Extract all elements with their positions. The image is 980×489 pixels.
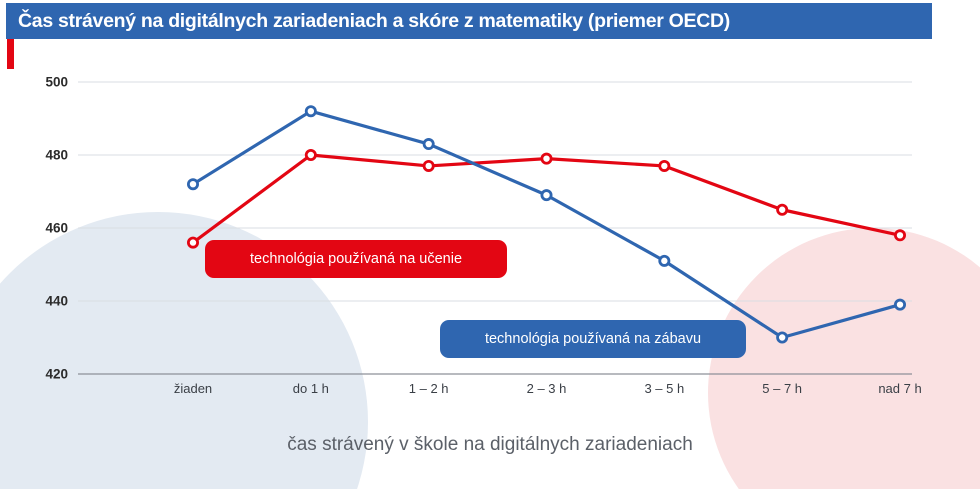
data-point (424, 161, 433, 170)
y-axis-tick-420: 420 (20, 367, 68, 382)
x-axis-caption: čas strávený v škole na digitálnych zari… (0, 434, 980, 456)
legend-item-entertainment[interactable]: technológia používaná na zábavu (440, 320, 746, 358)
data-point (542, 154, 551, 163)
legend-label-learning: technológia používaná na učenie (250, 251, 462, 267)
data-point (778, 333, 787, 342)
data-point (660, 161, 669, 170)
data-point (188, 238, 197, 247)
data-point (542, 191, 551, 200)
series-line-1 (193, 111, 900, 337)
page-title: Čas strávený na digitálnych zariadeniach… (18, 10, 730, 33)
data-point (306, 150, 315, 159)
data-point (778, 205, 787, 214)
x-axis-tick-3: 2 – 3 h (527, 381, 567, 396)
data-point (424, 139, 433, 148)
title-banner: Čas strávený na digitálnych zariadeniach… (6, 3, 932, 39)
data-point (660, 256, 669, 265)
chart-page: Čas strávený na digitálnych zariadeniach… (0, 0, 980, 489)
x-axis-tick-2: 1 – 2 h (409, 381, 449, 396)
x-axis-tick-6: nad 7 h (878, 381, 921, 396)
y-axis-tick-500: 500 (20, 75, 68, 90)
title-accent-bar (7, 39, 14, 69)
y-axis-tick-440: 440 (20, 294, 68, 309)
data-point (895, 231, 904, 240)
legend-label-entertainment: technológia používaná na zábavu (485, 331, 701, 347)
legend-item-learning[interactable]: technológia používaná na učenie (205, 240, 507, 278)
y-axis-tick-480: 480 (20, 148, 68, 163)
x-axis-tick-4: 3 – 5 h (644, 381, 684, 396)
data-point (306, 107, 315, 116)
y-axis-tick-460: 460 (20, 221, 68, 236)
x-axis-tick-0: žiaden (174, 381, 212, 396)
data-point (895, 300, 904, 309)
x-axis-tick-5: 5 – 7 h (762, 381, 802, 396)
data-point (188, 180, 197, 189)
x-axis-tick-1: do 1 h (293, 381, 329, 396)
